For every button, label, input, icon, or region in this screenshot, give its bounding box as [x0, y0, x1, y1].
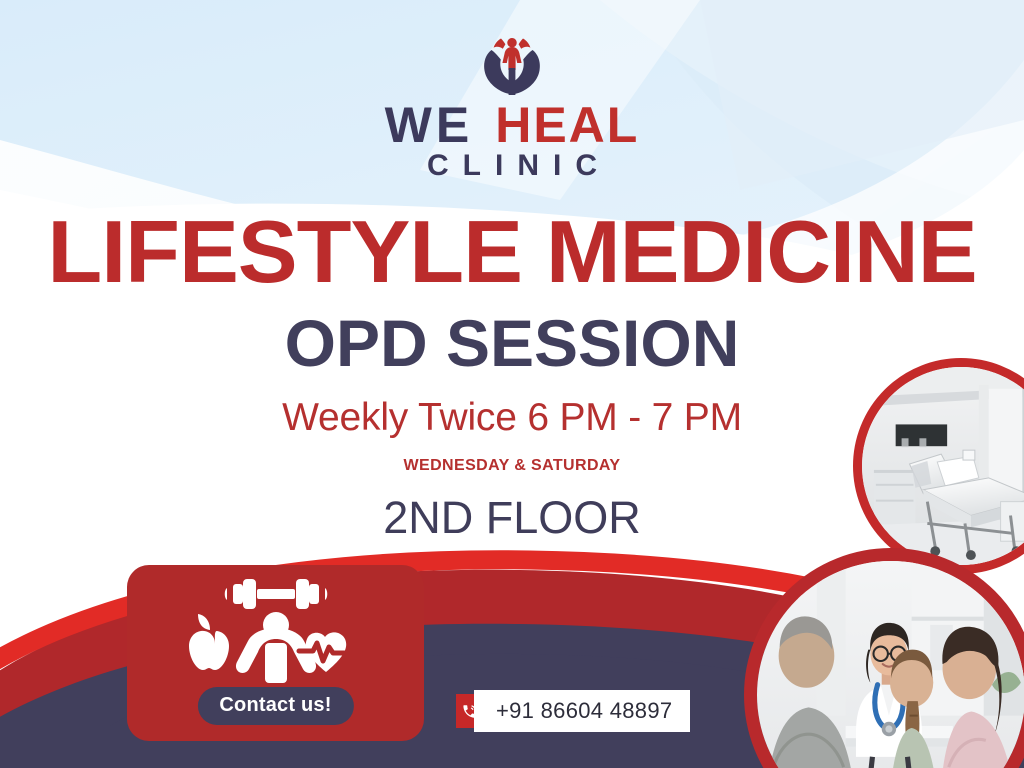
contact-us-button[interactable]: Contact us! [197, 687, 353, 725]
lifestyle-icon-group [181, 573, 371, 683]
hospital-room-illustration [862, 367, 1024, 565]
phone-number-text[interactable]: +91 86604 48897 [474, 690, 690, 732]
hands-cradling-person-logo-mark [473, 32, 551, 98]
logo-word-we: WE [385, 97, 474, 153]
doctor-consultation-illustration [757, 561, 1024, 768]
lifestyle-icon-card: Contact us! [127, 565, 424, 741]
contact-phone[interactable]: +91 86604 48897 [456, 690, 690, 732]
logo: WEHEAL CLINIC [0, 32, 1024, 181]
clinic-poster: WEHEAL CLINIC LIFESTYLE MEDICINE OPD SES… [0, 0, 1024, 768]
logo-word-heal: HEAL [495, 97, 639, 153]
logo-word-clinic: CLINIC [0, 151, 1024, 181]
page-title: LIFESTYLE MEDICINE [0, 210, 1024, 294]
logo-wordmark: WEHEAL [0, 100, 1024, 150]
page-subtitle: OPD SESSION [0, 310, 1024, 376]
